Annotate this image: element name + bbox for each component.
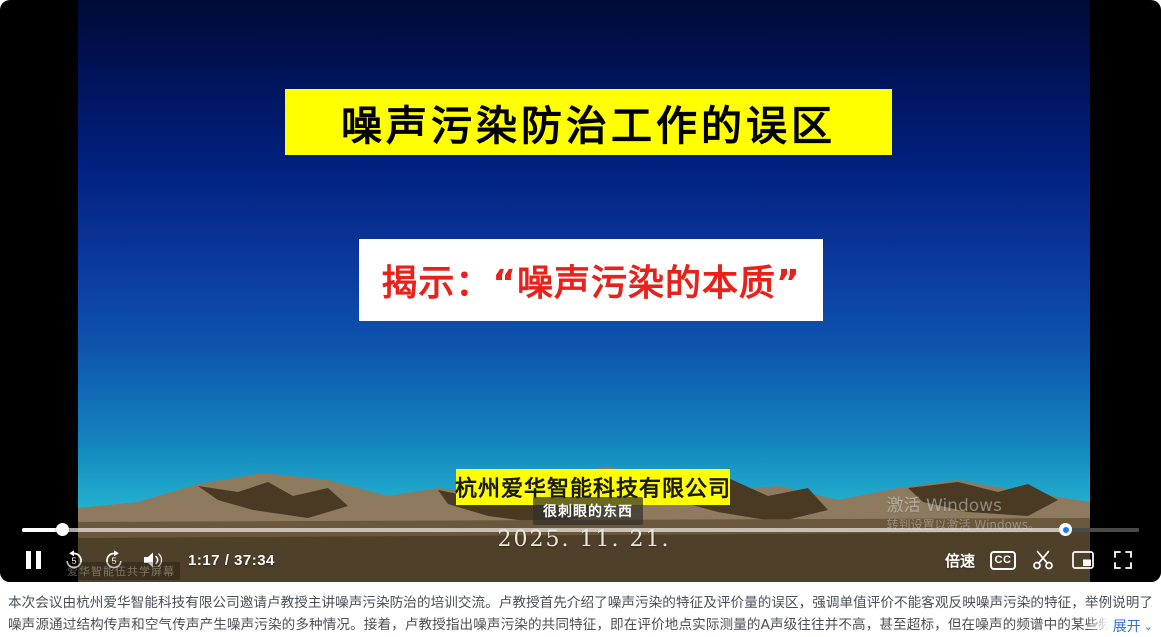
volume-slider[interactable] — [1059, 524, 1139, 536]
transcript-panel: 本次会议由杭州爱华智能科技有限公司邀请卢教授主讲噪声污染防治的培训交流。卢教授首… — [0, 592, 1161, 637]
slide-title-text: 噪声污染防治工作的误区 — [341, 92, 836, 152]
controls-bar: 5 5 — [0, 538, 1161, 582]
closed-captions-button[interactable]: CC — [983, 540, 1023, 580]
svg-text:5: 5 — [71, 556, 76, 566]
slide-annotation-label: 很刺眼的东西 — [533, 497, 643, 525]
transcript-expand-label: 展开 — [1113, 616, 1141, 636]
picture-in-picture-icon — [1072, 550, 1094, 570]
rewind-5-icon: 5 — [62, 548, 86, 572]
forward-5-icon: 5 — [102, 548, 126, 572]
forward-5-button[interactable]: 5 — [94, 540, 134, 580]
video-player[interactable]: 噪声污染防治工作的误区 揭示：“噪声污染的本质” 杭州爱华智能科技有限公司 很刺… — [0, 0, 1161, 582]
rewind-5-button[interactable]: 5 — [54, 540, 94, 580]
slide-subtitle-text: 揭示：“噪声污染的本质” — [381, 254, 800, 306]
fullscreen-icon — [1113, 550, 1133, 570]
chevron-down-icon: ⌄ — [1144, 620, 1153, 633]
time-display: 1:17 / 37:34 — [188, 552, 275, 569]
playback-speed-button[interactable]: 倍速 — [937, 540, 983, 580]
progress-track[interactable] — [22, 528, 1139, 532]
video-frame[interactable]: 噪声污染防治工作的误区 揭示：“噪声污染的本质” 杭州爱华智能科技有限公司 很刺… — [78, 0, 1090, 582]
volume-button[interactable] — [134, 540, 174, 580]
transcript-text: 本次会议由杭州爱华智能科技有限公司邀请卢教授主讲噪声污染防治的培训交流。卢教授首… — [8, 592, 1153, 636]
player-controls-overlay: 5 5 — [0, 524, 1161, 582]
controls-right-group: 倍速 CC — [937, 540, 1161, 580]
controls-left-group: 5 5 — [0, 540, 275, 580]
fullscreen-button[interactable] — [1103, 540, 1143, 580]
slide-title-box: 噪声污染防治工作的误区 — [285, 89, 892, 155]
cc-icon: CC — [990, 551, 1017, 570]
pause-icon — [25, 550, 43, 570]
volume-high-icon — [142, 550, 166, 570]
progress-handle[interactable] — [56, 523, 69, 536]
picture-in-picture-button[interactable] — [1063, 540, 1103, 580]
slide-subtitle-box: 揭示：“噪声污染的本质” — [359, 239, 823, 321]
scissors-icon — [1032, 549, 1054, 571]
progress-bar[interactable] — [22, 524, 1139, 536]
pause-button[interactable] — [14, 540, 54, 580]
volume-slider-handle[interactable] — [1059, 523, 1072, 536]
transcript-expand-button[interactable]: 展开 ⌄ — [1087, 616, 1153, 636]
svg-text:5: 5 — [111, 556, 116, 566]
clip-button[interactable] — [1023, 540, 1063, 580]
